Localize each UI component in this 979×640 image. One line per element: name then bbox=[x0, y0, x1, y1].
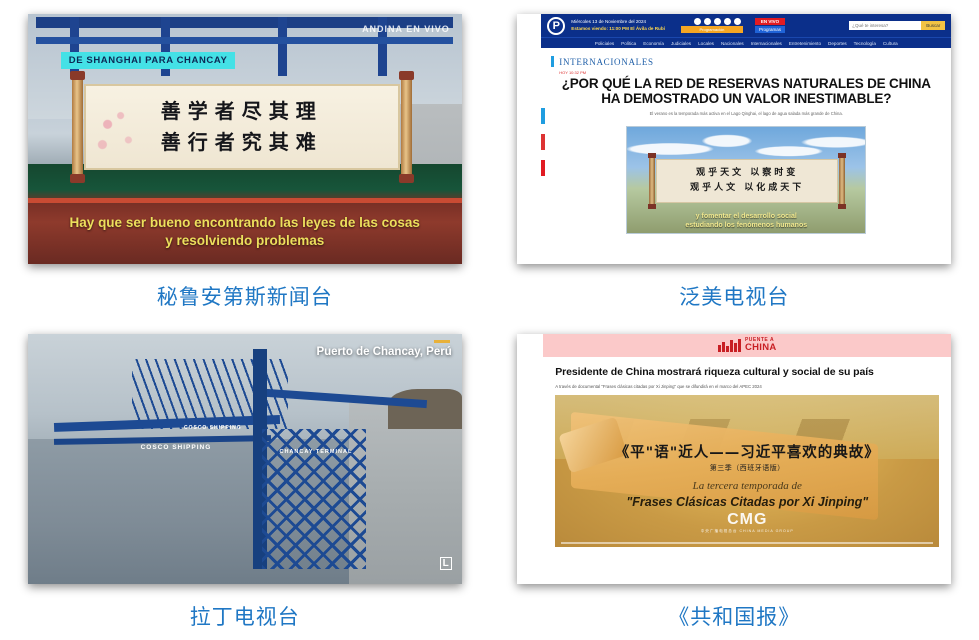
panel-la-republica[interactable]: PUENTE A CHINA Presidente de China mostr… bbox=[490, 320, 979, 640]
subtitle-line-1: Hay que ser bueno encontrando las leyes … bbox=[46, 214, 444, 232]
side-accent-bars bbox=[541, 108, 545, 186]
thumbnail-image-3[interactable]: COSCO SHIPPING COSCO SHIPPING CHANCAY TE… bbox=[28, 334, 462, 584]
panel-caption-3: 拉丁电视台 bbox=[190, 601, 300, 631]
nav-item-internacionales[interactable]: Internacionales bbox=[751, 41, 782, 46]
thumbnail-image-1[interactable]: ANDINA EN VIVO DE SHANGHAI PARA CHANCAY … bbox=[28, 14, 462, 264]
brand-wordmark: PUENTE A CHINA bbox=[745, 338, 777, 353]
scroll-rod-left bbox=[649, 153, 655, 209]
calligraphy-scroll: 观乎天文 以察时变 观乎人文 以化成天下 bbox=[649, 153, 845, 209]
left-rail bbox=[517, 14, 541, 264]
scroll-line-1: 观乎天文 以察时变 bbox=[696, 166, 798, 181]
tiktok-icon[interactable] bbox=[734, 18, 741, 25]
cmg-wordmark: CMG bbox=[555, 511, 939, 529]
article-timestamp: HOY 10:32 PM bbox=[559, 70, 941, 75]
spanish-subtitle: Hay que ser bueno encontrando las leyes … bbox=[28, 214, 462, 250]
video-subtitle-line-1: y fomentar el desarrollo social bbox=[627, 212, 865, 221]
youtube-icon[interactable] bbox=[724, 18, 731, 25]
nav-item-nacionales[interactable]: Nacionales bbox=[721, 41, 744, 46]
cosco-label-secondary: COSCO SHIPPING bbox=[184, 425, 242, 431]
video-subtitle: y fomentar el desarrollo social estudian… bbox=[627, 212, 865, 230]
brand-main-text: CHINA bbox=[745, 343, 777, 353]
program-season-es: La tercera temporada de bbox=[555, 480, 939, 492]
embedded-video-player[interactable]: 观乎天文 以察时变 观乎人文 以化成天下 y fomentar el desar… bbox=[626, 126, 866, 234]
video-subtitle-line-2: estudiando los fenómenos humanos bbox=[627, 221, 865, 230]
puente-a-china-article: PUENTE A CHINA Presidente de China mostr… bbox=[517, 334, 951, 584]
left-rail bbox=[517, 334, 543, 584]
andina-watermark: ANDINA EN VIVO bbox=[362, 24, 450, 34]
article-dek: A través de documental "Frases clásicas … bbox=[555, 384, 939, 389]
header-datetime: Miércoles 13 de Noviembre del 2024 Estam… bbox=[571, 19, 665, 33]
nav-item-locales[interactable]: Locales bbox=[698, 41, 714, 46]
slide-root: ANDINA EN VIVO DE SHANGHAI PARA CHANCAY … bbox=[0, 0, 979, 640]
facebook-icon[interactable] bbox=[694, 18, 701, 25]
scroll-line-1: 善学者尽其理 bbox=[161, 96, 323, 127]
video-still-chancay-port: COSCO SHIPPING COSCO SHIPPING CHANCAY TE… bbox=[28, 334, 462, 584]
plum-blossom-icon bbox=[92, 104, 144, 162]
program-title-cn: 《平"语"近人——习近平喜欢的典故》 bbox=[555, 441, 939, 462]
panel-peru-andina-news[interactable]: ANDINA EN VIVO DE SHANGHAI PARA CHANCAY … bbox=[0, 0, 490, 320]
chyron-banner: DE SHANGHAI PARA CHANCAY bbox=[61, 52, 236, 69]
site-navbar[interactable]: Policiales Política Economía Judiciales … bbox=[541, 37, 951, 48]
search-input[interactable] bbox=[849, 21, 921, 30]
site-logo-icon[interactable]: P bbox=[547, 17, 565, 35]
program-title-es: "Frases Clásicas Citadas por Xi Jinping" bbox=[555, 495, 939, 509]
panel-caption-2: 泛美电视台 bbox=[679, 281, 789, 311]
nav-item-cultura[interactable]: Cultura bbox=[883, 41, 898, 46]
chancay-terminal-label: CHANCAY TERMINAL bbox=[279, 449, 352, 455]
live-badge[interactable]: EN VIVO bbox=[755, 18, 785, 25]
video-still-port: ANDINA EN VIVO DE SHANGHAI PARA CHANCAY … bbox=[28, 14, 462, 264]
instagram-icon[interactable] bbox=[714, 18, 721, 25]
hill-region bbox=[388, 389, 462, 429]
nav-item-tecnologia[interactable]: Tecnología bbox=[854, 41, 876, 46]
nav-item-judiciales[interactable]: Judiciales bbox=[671, 41, 691, 46]
nav-item-economia[interactable]: Economía bbox=[643, 41, 664, 46]
bridge-icon bbox=[718, 339, 741, 352]
panel-panamerican-tv[interactable]: P Miércoles 13 de Noviembre del 2024 Est… bbox=[490, 0, 979, 320]
nav-item-deportes[interactable]: Deportes bbox=[828, 41, 847, 46]
article-category[interactable]: INTERNACIONALES bbox=[551, 56, 941, 67]
panel-latina-tv[interactable]: COSCO SHIPPING COSCO SHIPPING CHANCAY TE… bbox=[0, 320, 490, 640]
nav-item-policiales[interactable]: Policiales bbox=[595, 41, 614, 46]
programacion-button[interactable]: Programación bbox=[681, 26, 743, 33]
date-line: Miércoles 13 de Noviembre del 2024 bbox=[571, 19, 665, 26]
channel-bug: L bbox=[440, 557, 452, 570]
x-icon[interactable] bbox=[704, 18, 711, 25]
thumbnail-image-2[interactable]: P Miércoles 13 de Noviembre del 2024 Est… bbox=[517, 14, 951, 264]
location-label: Puerto de Chancay, Perú bbox=[316, 346, 451, 358]
scroll-line-2: 观乎人文 以化成天下 bbox=[690, 181, 804, 196]
scroll-line-2: 善行者究其难 bbox=[161, 127, 323, 158]
program-season-cn: 第三季（西班牙语版） bbox=[555, 463, 939, 473]
channel-accent-tick bbox=[434, 340, 450, 343]
thumbnail-image-4[interactable]: PUENTE A CHINA Presidente de China mostr… bbox=[517, 334, 951, 584]
thumbnail-grid: ANDINA EN VIVO DE SHANGHAI PARA CHANCAY … bbox=[0, 0, 979, 640]
programas-button[interactable]: Programas bbox=[755, 26, 785, 33]
article-body: INTERNACIONALES HOY 10:32 PM ¿POR QUÉ LA… bbox=[541, 48, 951, 264]
scroll-rod-left bbox=[72, 72, 83, 182]
article-body: Presidente de China mostrará riqueza cul… bbox=[543, 357, 951, 584]
cmg-subtext: 中央广播电视总台 CHINA MEDIA GROUP bbox=[555, 529, 939, 534]
scroll-paper: 善学者尽其理 善行者究其难 bbox=[84, 84, 400, 170]
search-box[interactable]: Buscar bbox=[849, 21, 945, 30]
scroll-paper: 观乎天文 以察时变 观乎人文 以化成天下 bbox=[656, 159, 838, 203]
scroll-rod-right bbox=[401, 72, 412, 182]
video-progress-bar[interactable] bbox=[561, 542, 933, 544]
scroll-rod-right bbox=[839, 153, 845, 209]
site-header: P Miércoles 13 de Noviembre del 2024 Est… bbox=[541, 14, 951, 37]
embedded-video-player[interactable]: 《平"语"近人——习近平喜欢的典故》 第三季（西班牙语版） La tercera… bbox=[555, 395, 939, 547]
article-headline: ¿POR QUÉ LA RED DE RESERVAS NATURALES DE… bbox=[551, 76, 941, 106]
cosco-label-primary: COSCO SHIPPING bbox=[141, 444, 212, 451]
panel-caption-4: 《共和国报》 bbox=[668, 601, 800, 631]
news-website-screenshot: P Miércoles 13 de Noviembre del 2024 Est… bbox=[517, 14, 951, 264]
social-icons[interactable] bbox=[694, 18, 741, 25]
calligraphy-scroll: 善学者尽其理 善行者究其难 bbox=[72, 72, 412, 182]
subtitle-line-2: y resolviendo problemas bbox=[46, 232, 444, 250]
article-title: Presidente de China mostrará riqueza cul… bbox=[555, 366, 939, 378]
article-column: PUENTE A CHINA Presidente de China mostr… bbox=[543, 334, 951, 584]
nav-item-politica[interactable]: Política bbox=[621, 41, 636, 46]
category-accent-bar bbox=[551, 56, 554, 67]
site-body: P Miércoles 13 de Noviembre del 2024 Est… bbox=[541, 14, 951, 264]
category-label[interactable]: INTERNACIONALES bbox=[559, 57, 654, 67]
section-brand-banner[interactable]: PUENTE A CHINA bbox=[543, 334, 951, 357]
panel-caption-1: 秘鲁安第斯新闻台 bbox=[157, 281, 333, 311]
search-button[interactable]: Buscar bbox=[921, 21, 945, 30]
cmg-logo: CMG 中央广播电视总台 CHINA MEDIA GROUP bbox=[555, 511, 939, 534]
article-dek: El verano es la temporada más activa en … bbox=[551, 111, 941, 116]
onair-line: Estamos viendo: 11:00 PM El Ávila de Rub… bbox=[571, 26, 665, 31]
nav-item-entretenimiento[interactable]: Entretenimiento bbox=[789, 41, 821, 46]
